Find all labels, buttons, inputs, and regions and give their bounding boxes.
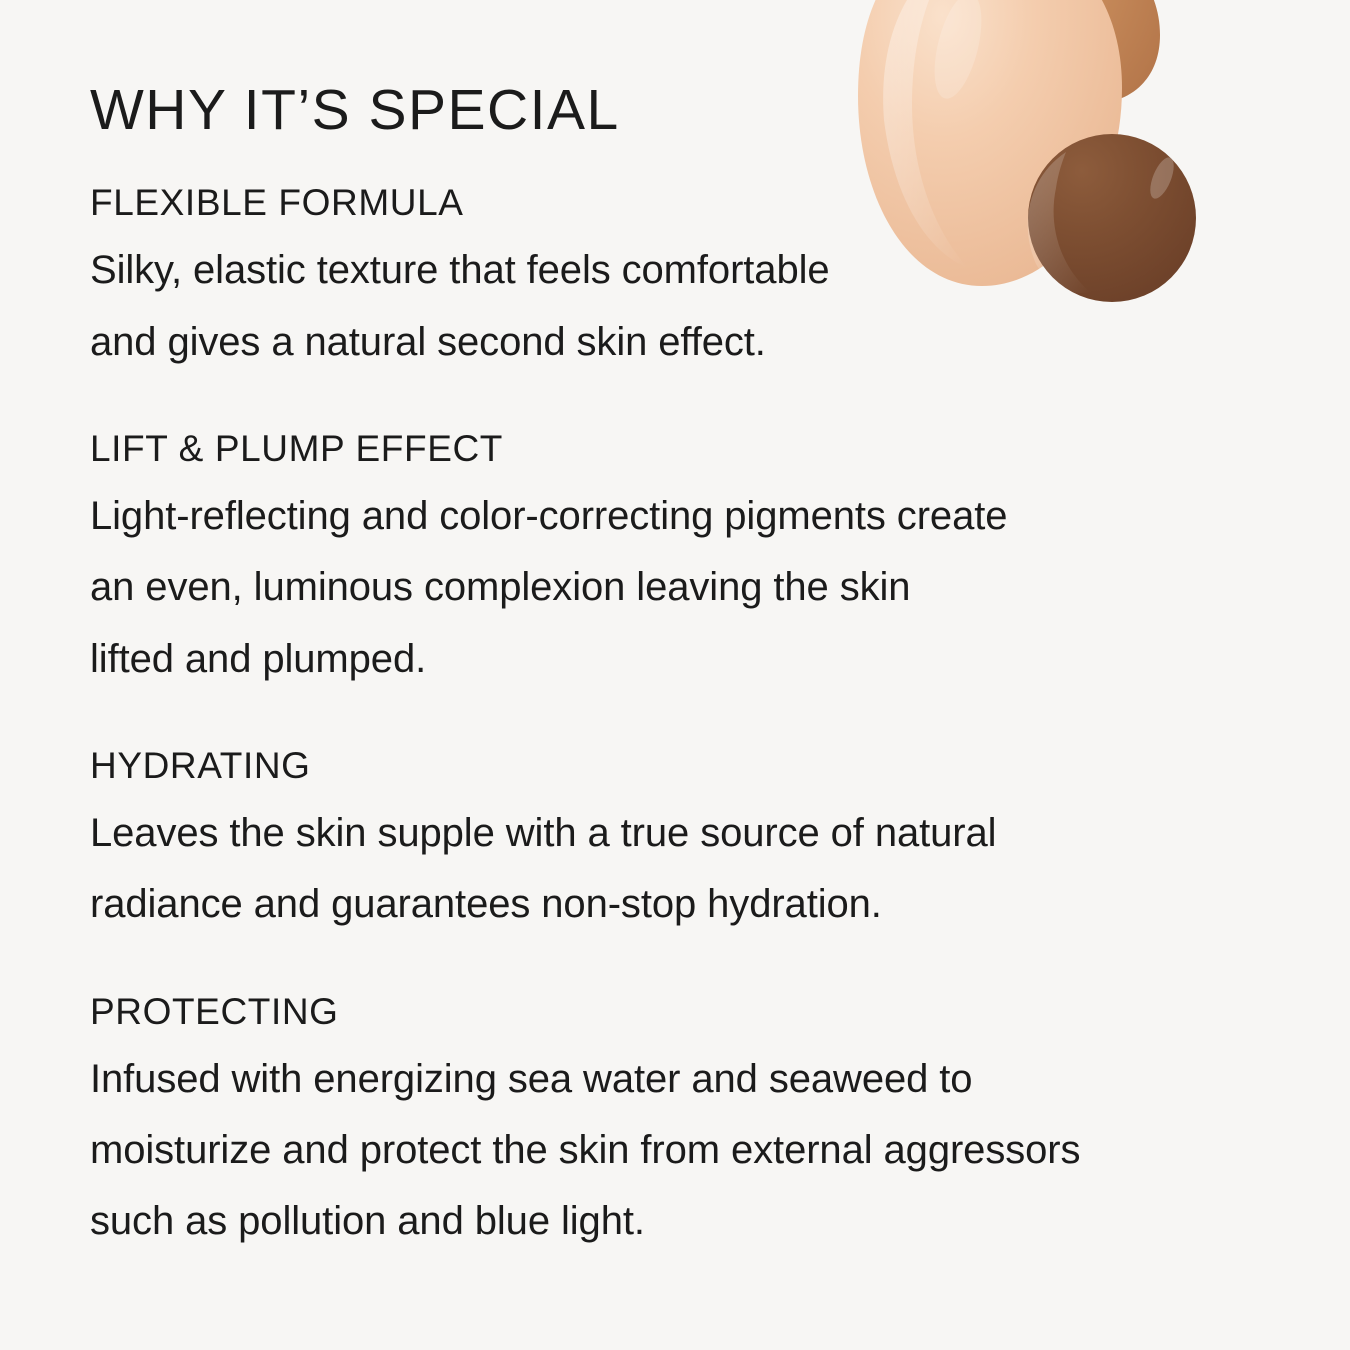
body-line: moisturize and protect the skin from ext… — [90, 1115, 1305, 1186]
body-line: Leaves the skin supple with a true sourc… — [90, 798, 1305, 869]
page-title: WHY IT’S SPECIAL — [90, 82, 620, 139]
tan-droplet — [977, 0, 1160, 150]
body-line: lifted and plumped. — [90, 624, 1305, 695]
section-heading: LIFT & PLUMP EFFECT — [90, 428, 1305, 469]
body-line: Light-reflecting and color-correcting pi… — [90, 481, 1305, 552]
body-line: radiance and guarantees non-stop hydrati… — [90, 869, 1305, 940]
body-line: Infused with energizing sea water and se… — [90, 1044, 1305, 1115]
body-line: such as pollution and blue light. — [90, 1186, 1305, 1257]
body-line: Silky, elastic texture that feels comfor… — [90, 235, 1305, 306]
body-line: and gives a natural second skin effect. — [90, 307, 1305, 378]
section-heading: PROTECTING — [90, 991, 1305, 1032]
section-body: Infused with energizing sea water and se… — [90, 1044, 1305, 1258]
section-protecting: PROTECTING Infused with energizing sea w… — [90, 991, 1305, 1258]
section-heading: FLEXIBLE FORMULA — [90, 182, 1305, 223]
section-flexible-formula: FLEXIBLE FORMULA Silky, elastic texture … — [90, 182, 1305, 378]
section-lift-and-plump-effect: LIFT & PLUMP EFFECT Light-reflecting and… — [90, 428, 1305, 695]
section-heading: HYDRATING — [90, 745, 1305, 786]
body-line: an even, luminous complexion leaving the… — [90, 552, 1305, 623]
section-body: Silky, elastic texture that feels comfor… — [90, 235, 1305, 377]
section-hydrating: HYDRATING Leaves the skin supple with a … — [90, 745, 1305, 941]
section-body: Light-reflecting and color-correcting pi… — [90, 481, 1305, 695]
section-body: Leaves the skin supple with a true sourc… — [90, 798, 1305, 940]
feature-sections: FLEXIBLE FORMULA Silky, elastic texture … — [90, 182, 1305, 1258]
